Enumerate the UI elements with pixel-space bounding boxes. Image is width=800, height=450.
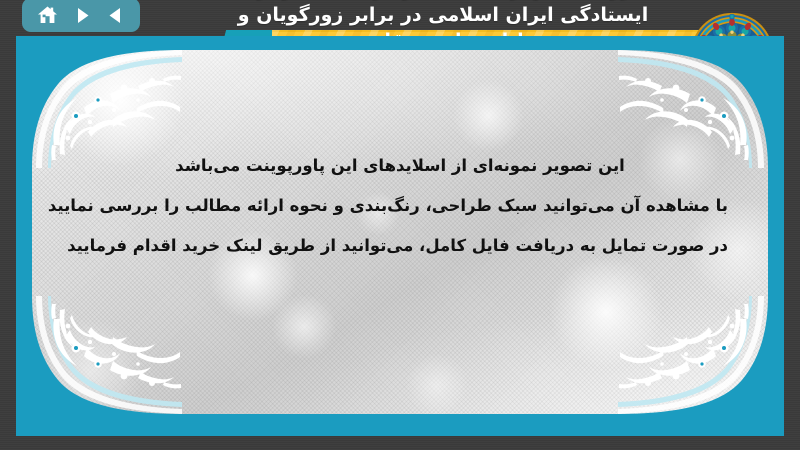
home-icon	[37, 5, 58, 25]
slide-body-text: این تصویر نمونه‌ای از اسلایدهای این پاور…	[72, 146, 728, 266]
back-button[interactable]	[106, 6, 125, 25]
corner-ornament-bottom-right	[618, 296, 768, 414]
body-line-3: در صورت تمایل به دریافت فایل کامل، می‌تو…	[72, 226, 728, 266]
slide-paper-area: این تصویر نمونه‌ای از اسلایدهای این پاور…	[32, 50, 768, 414]
triangle-left-icon	[106, 6, 125, 25]
home-button[interactable]	[37, 5, 58, 25]
slide-preview-window: بررسی اظهارات استاندار کرمانشاه درباره ا…	[0, 0, 800, 450]
forward-button[interactable]	[73, 6, 92, 25]
navigation-toolbar[interactable]	[22, 0, 140, 32]
triangle-right-icon	[73, 6, 92, 25]
body-line-2: با مشاهده آن می‌توانید سبک طراحی، رنگ‌بن…	[72, 186, 728, 226]
body-line-1: این تصویر نمونه‌ای از اسلایدهای این پاور…	[72, 146, 728, 186]
slide-frame: این تصویر نمونه‌ای از اسلایدهای این پاور…	[16, 36, 784, 436]
corner-ornament-bottom-left	[32, 296, 182, 414]
